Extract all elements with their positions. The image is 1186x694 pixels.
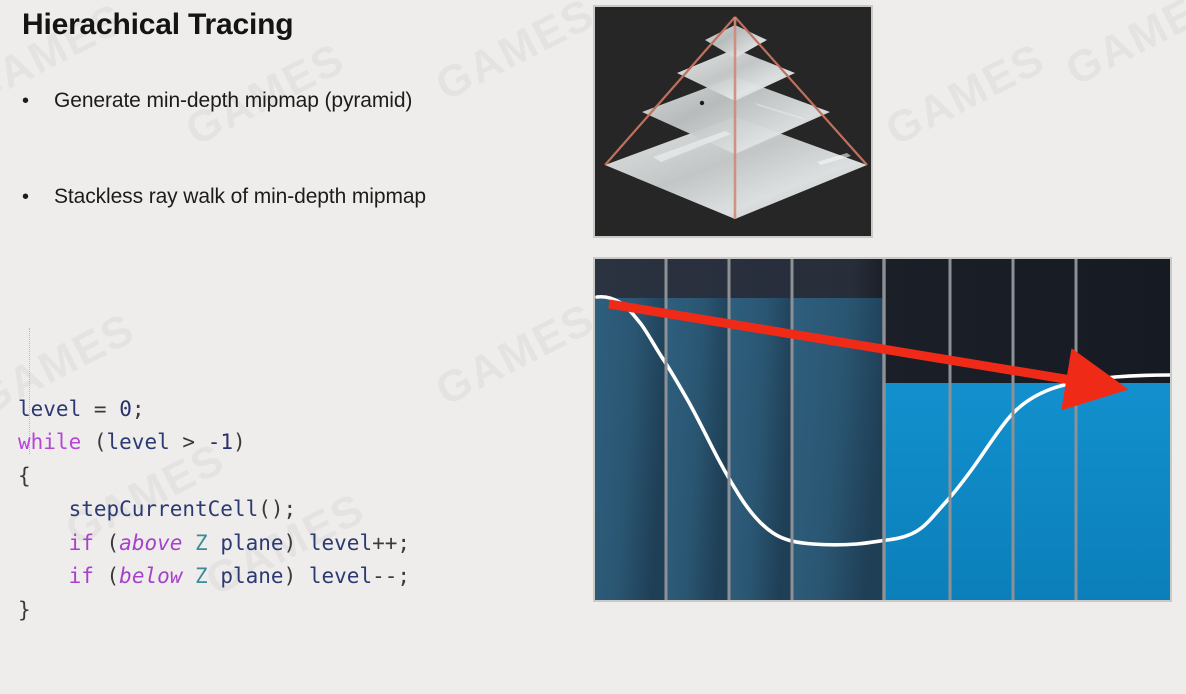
depth-cell-7 [1076, 383, 1170, 600]
code-token [170, 430, 183, 454]
bullet-text: Generate min-depth mipmap (pyramid) [54, 88, 412, 114]
code-token: level [18, 397, 81, 421]
code-line: level = 0; [18, 393, 410, 427]
code-token [18, 531, 69, 555]
code-token: if [69, 531, 94, 555]
code-token: plane [220, 531, 283, 555]
code-token: level [309, 564, 372, 588]
code-line: while (level > -1) [18, 426, 410, 460]
code-token: Z [195, 531, 208, 555]
code-token: ; [132, 397, 145, 421]
bullet-text: Stackless ray walk of min-depth mipmap [54, 184, 426, 210]
depth-cells-figure [593, 257, 1172, 602]
slide-left-column: Hierachical Tracing • Generate min-depth… [0, 0, 593, 607]
watermark-text: GAMES [878, 34, 1053, 156]
code-token [208, 564, 221, 588]
code-line: stepCurrentCell(); [18, 493, 410, 527]
code-line: if (below Z plane) level--; [18, 560, 410, 594]
depth-cell-2 [729, 298, 792, 600]
code-token: if [69, 564, 94, 588]
code-token [208, 531, 221, 555]
bullet-marker-icon: • [22, 88, 40, 114]
code-token [18, 564, 69, 588]
page-title: Hierachical Tracing [22, 8, 293, 42]
code-token: ) [284, 531, 309, 555]
surface-speck [700, 101, 704, 105]
code-line: { [18, 460, 410, 494]
mipmap-pyramid-figure [593, 5, 873, 238]
code-token: level [107, 430, 170, 454]
code-token: stepCurrentCell [18, 497, 258, 521]
bullet-marker-icon: • [22, 184, 40, 210]
code-token: level [309, 531, 372, 555]
code-token: ) [284, 564, 309, 588]
code-token: ( [94, 531, 119, 555]
code-block: level = 0;while (level > -1){ stepCurren… [18, 292, 410, 694]
code-token [182, 564, 195, 588]
code-token [81, 397, 94, 421]
code-token: below [119, 564, 182, 588]
depth-cell-5 [950, 383, 1013, 600]
bullet-item-0: • Generate min-depth mipmap (pyramid) [22, 88, 412, 114]
code-token [195, 430, 208, 454]
code-token: } [18, 598, 31, 622]
code-token: { [18, 464, 31, 488]
depth-cells-svg [595, 259, 1170, 600]
code-token: while [18, 430, 81, 454]
code-token: -1 [208, 430, 233, 454]
depth-cell-1 [666, 298, 729, 600]
depth-cell-4 [884, 383, 950, 600]
code-token [107, 397, 120, 421]
code-line: if (above Z plane) level++; [18, 527, 410, 561]
watermark-text: GAMES [1058, 0, 1186, 96]
code-token: plane [220, 564, 283, 588]
code-token: > [182, 430, 195, 454]
mipmap-pyramid-svg [595, 7, 871, 236]
code-token: Z [195, 564, 208, 588]
code-token: ( [81, 430, 106, 454]
code-token: (); [258, 497, 296, 521]
code-token: = [94, 397, 107, 421]
code-token: ) [233, 430, 246, 454]
depth-cell-6 [1013, 383, 1076, 600]
code-token: ( [94, 564, 119, 588]
code-token: ++; [372, 531, 410, 555]
code-line: } [18, 594, 410, 628]
code-token: above [119, 531, 182, 555]
code-token: 0 [119, 397, 132, 421]
code-lines: level = 0;while (level > -1){ stepCurren… [18, 393, 410, 628]
code-token: --; [372, 564, 410, 588]
bullet-item-1: • Stackless ray walk of min-depth mipmap [22, 184, 426, 210]
code-token [182, 531, 195, 555]
